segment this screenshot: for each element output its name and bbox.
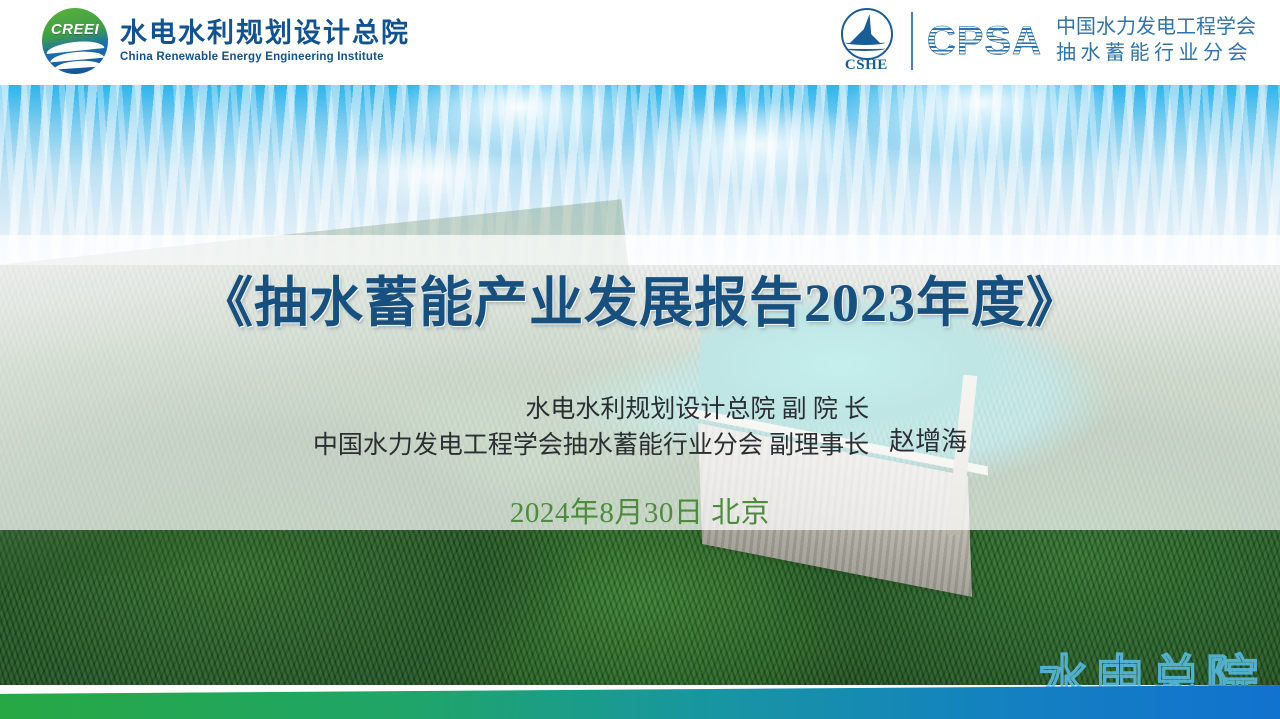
creei-name-en: China Renewable Energy Engineering Insti… xyxy=(120,51,410,63)
wave-shape xyxy=(845,46,885,51)
cpsa-name-line1: 中国水力发电工程学会 xyxy=(1056,15,1256,41)
affiliation-line-1: 水电水利规划设计总院 副 院 长 xyxy=(313,392,869,428)
title-slide: CREEI 水电水利规划设计总院 China Renewable Energy … xyxy=(0,0,1280,719)
cpsa-wordmark: CPSA xyxy=(927,21,1042,61)
creei-name-cn: 水电水利规划设计总院 xyxy=(120,19,410,47)
creei-wordmark: 水电水利规划设计总院 China Renewable Energy Engine… xyxy=(120,19,410,62)
cshe-circle-emblem-icon: CSHE xyxy=(835,8,897,74)
slide-text-layer: 《抽水蓄能产业发展报告2023年度》 水电水利规划设计总院 副 院 长 中国水力… xyxy=(0,0,1280,719)
creei-circle-wave-icon: CREEI xyxy=(42,8,108,74)
speaker-byline: 水电水利规划设计总院 副 院 长 中国水力发电工程学会抽水蓄能行业分会 副理事长… xyxy=(0,392,1280,463)
creei-logo: CREEI 水电水利规划设计总院 China Renewable Energy … xyxy=(42,8,410,74)
page-title: 《抽水蓄能产业发展报告2023年度》 xyxy=(0,274,1280,333)
speaker-name: 赵增海 xyxy=(883,397,967,458)
affiliation-line-2: 中国水力发电工程学会抽水蓄能行业分会 副理事长 xyxy=(313,428,869,464)
wave-shape xyxy=(845,40,885,45)
emblem-circle xyxy=(841,8,893,60)
cshe-label: CSHE xyxy=(835,57,897,74)
speaker-affiliations: 水电水利规划设计总院 副 院 长 中国水力发电工程学会抽水蓄能行业分会 副理事长 xyxy=(313,392,869,463)
cpsa-name-block: 中国水力发电工程学会 抽水蓄能行业分会 xyxy=(1056,15,1256,66)
header-bar: CREEI 水电水利规划设计总院 China Renewable Energy … xyxy=(0,0,1280,85)
date-location: 2024年8月30日 北京 xyxy=(0,489,1280,531)
creei-mark-text: CREEI xyxy=(42,21,108,38)
logo-divider xyxy=(911,12,913,70)
cpsa-logo: CSHE CPSA 中国水力发电工程学会 抽水蓄能行业分会 xyxy=(835,8,1256,74)
cpsa-name-line2: 抽水蓄能行业分会 xyxy=(1056,41,1256,67)
